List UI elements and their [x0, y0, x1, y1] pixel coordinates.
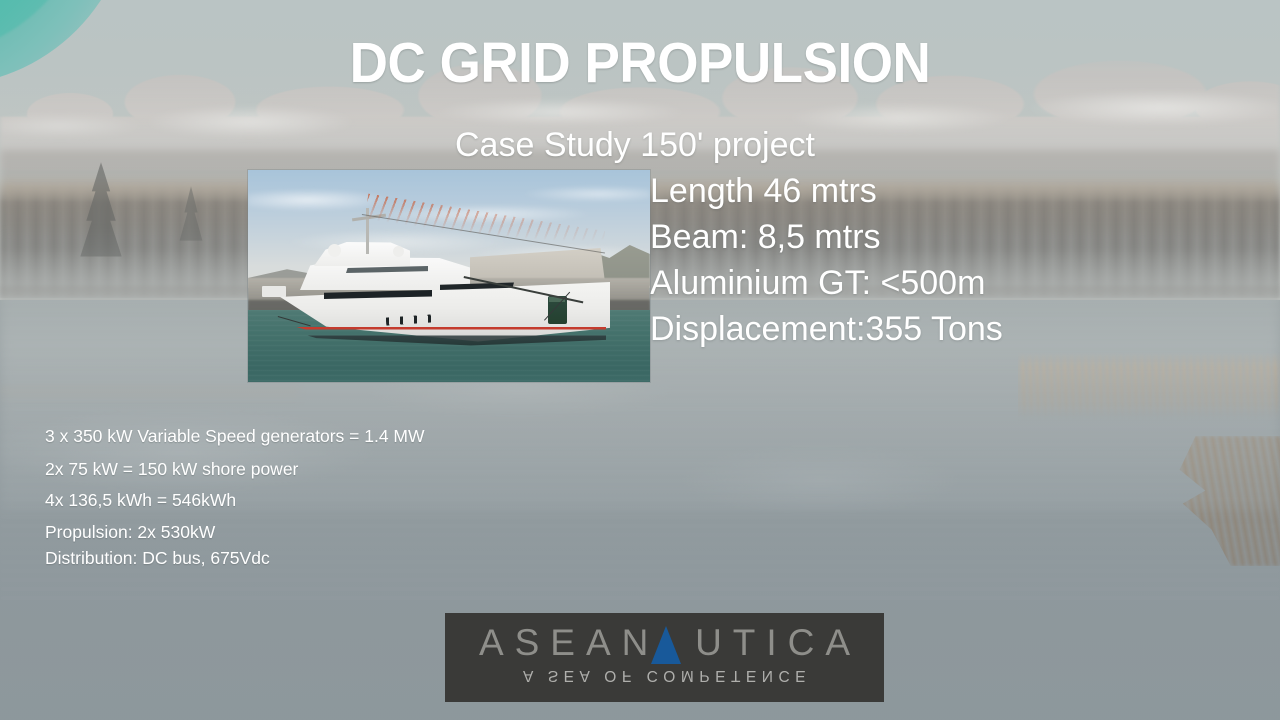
yacht-photo [248, 170, 650, 382]
spec-case-study: Case Study 150' project [455, 122, 1095, 168]
page-title: DC GRID PROPULSION [45, 34, 1235, 94]
slide-canvas: DC GRID PROPULSION Case Study 150' proje… [0, 0, 1280, 720]
note-shore-power: 2x 75 kW = 150 kW shore power [45, 461, 605, 479]
note-generators: 3 x 350 kW Variable Speed generators = 1… [45, 428, 605, 446]
note-batteries: 4x 136,5 kWh = 546kWh [45, 492, 605, 510]
photo-radome-2 [393, 246, 404, 257]
logo-word-part1: ASEAN [479, 622, 659, 663]
photo-truck [262, 286, 286, 297]
power-system-notes: 3 x 350 kW Variable Speed generators = 1… [45, 428, 605, 568]
note-distribution: Distribution: DC bus, 675Vdc [45, 550, 605, 568]
logo-tagline: A SEA OF COMPETENCE [445, 666, 884, 684]
aseanautica-logo: ASEANAUTICA A SEA OF COMPETENCE [445, 613, 884, 702]
note-propulsion: Propulsion: 2x 530kW [45, 524, 605, 542]
photo-radome [328, 244, 341, 257]
logo-word-part2: UTICA [695, 622, 861, 663]
